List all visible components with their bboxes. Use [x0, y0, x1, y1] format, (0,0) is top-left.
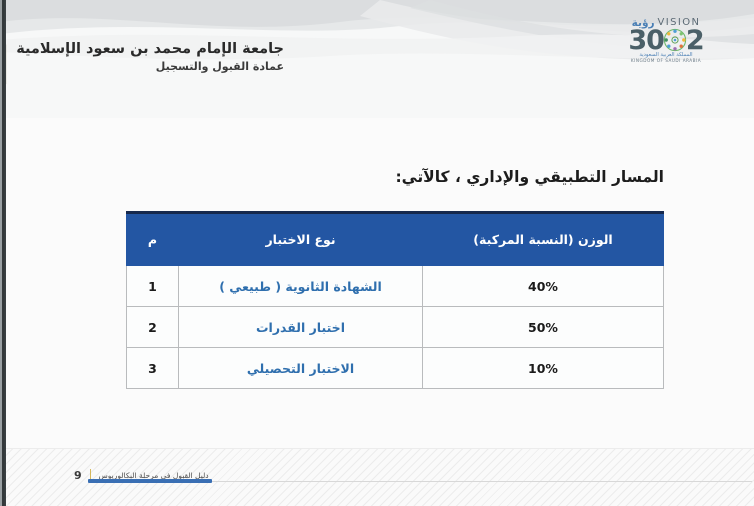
- university-name: جامعة الإمام محمد بن سعود الإسلامية: [16, 41, 284, 58]
- cell-num: 1: [127, 266, 179, 307]
- cell-type: الشهادة الثانوية ( طبيعي ): [179, 266, 423, 307]
- column-header-type: نوع الاختبار: [179, 213, 423, 266]
- cell-type: الاختبار التحصيلي: [179, 348, 423, 389]
- vision-digit-2: 2: [686, 27, 704, 54]
- footer-hairline: [212, 481, 752, 482]
- table-head: الوزن (النسبة المركبة) نوع الاختبار م: [127, 213, 664, 266]
- cell-weight: 50%: [423, 307, 664, 348]
- page-number: 9: [74, 469, 82, 482]
- university-logo: جامعة الإمام محمد بن سعود الإسلامية عماد…: [0, 28, 284, 86]
- footer-accent-rule: [88, 479, 212, 483]
- table-row: 50% اختبار القدرات 2: [127, 307, 664, 348]
- vision-digit-30: 30: [628, 27, 664, 54]
- page-footer: 9 دليل القبول في مرحلة البكالوريوس: [0, 448, 754, 506]
- vision-2030-logo: VISION رؤية 2 30: [618, 16, 714, 64]
- cell-weight: 40%: [423, 266, 664, 307]
- cell-num: 2: [127, 307, 179, 348]
- cell-type: اختبار القدرات: [179, 307, 423, 348]
- university-logo-text: جامعة الإمام محمد بن سعود الإسلامية عماد…: [16, 41, 284, 73]
- window-edge-highlight: [0, 0, 2, 506]
- section-heading: المسار التطبيقي والإداري ، كالآتي:: [395, 168, 664, 186]
- vision-year-2030: 2 30: [628, 27, 703, 53]
- table-row: 10% الاختبار التحصيلي 3: [127, 348, 664, 389]
- criteria-table-container: الوزن (النسبة المركبة) نوع الاختبار م 40…: [127, 211, 664, 389]
- vision-subtitle-en: KINGDOM OF SAUDI ARABIA: [631, 59, 701, 64]
- slide-canvas: جامعة الإمام محمد بن سعود الإسلامية عماد…: [0, 0, 754, 506]
- cell-weight: 10%: [423, 348, 664, 389]
- column-header-num: م: [127, 213, 179, 266]
- table-row: 40% الشهادة الثانوية ( طبيعي ) 1: [127, 266, 664, 307]
- admission-criteria-table: الوزن (النسبة المركبة) نوع الاختبار م 40…: [126, 211, 664, 389]
- column-header-weight: الوزن (النسبة المركبة): [423, 213, 664, 266]
- table-header-row: الوزن (النسبة المركبة) نوع الاختبار م: [127, 213, 664, 266]
- table-body: 40% الشهادة الثانوية ( طبيعي ) 1 50% اخت…: [127, 266, 664, 389]
- slide-content: المسار التطبيقي والإداري ، كالآتي: الوزن…: [0, 118, 754, 448]
- vision-circular-emblem-icon: [663, 28, 687, 52]
- cell-num: 3: [127, 348, 179, 389]
- deanship-name: عمادة القبول والتسجيل: [156, 61, 284, 74]
